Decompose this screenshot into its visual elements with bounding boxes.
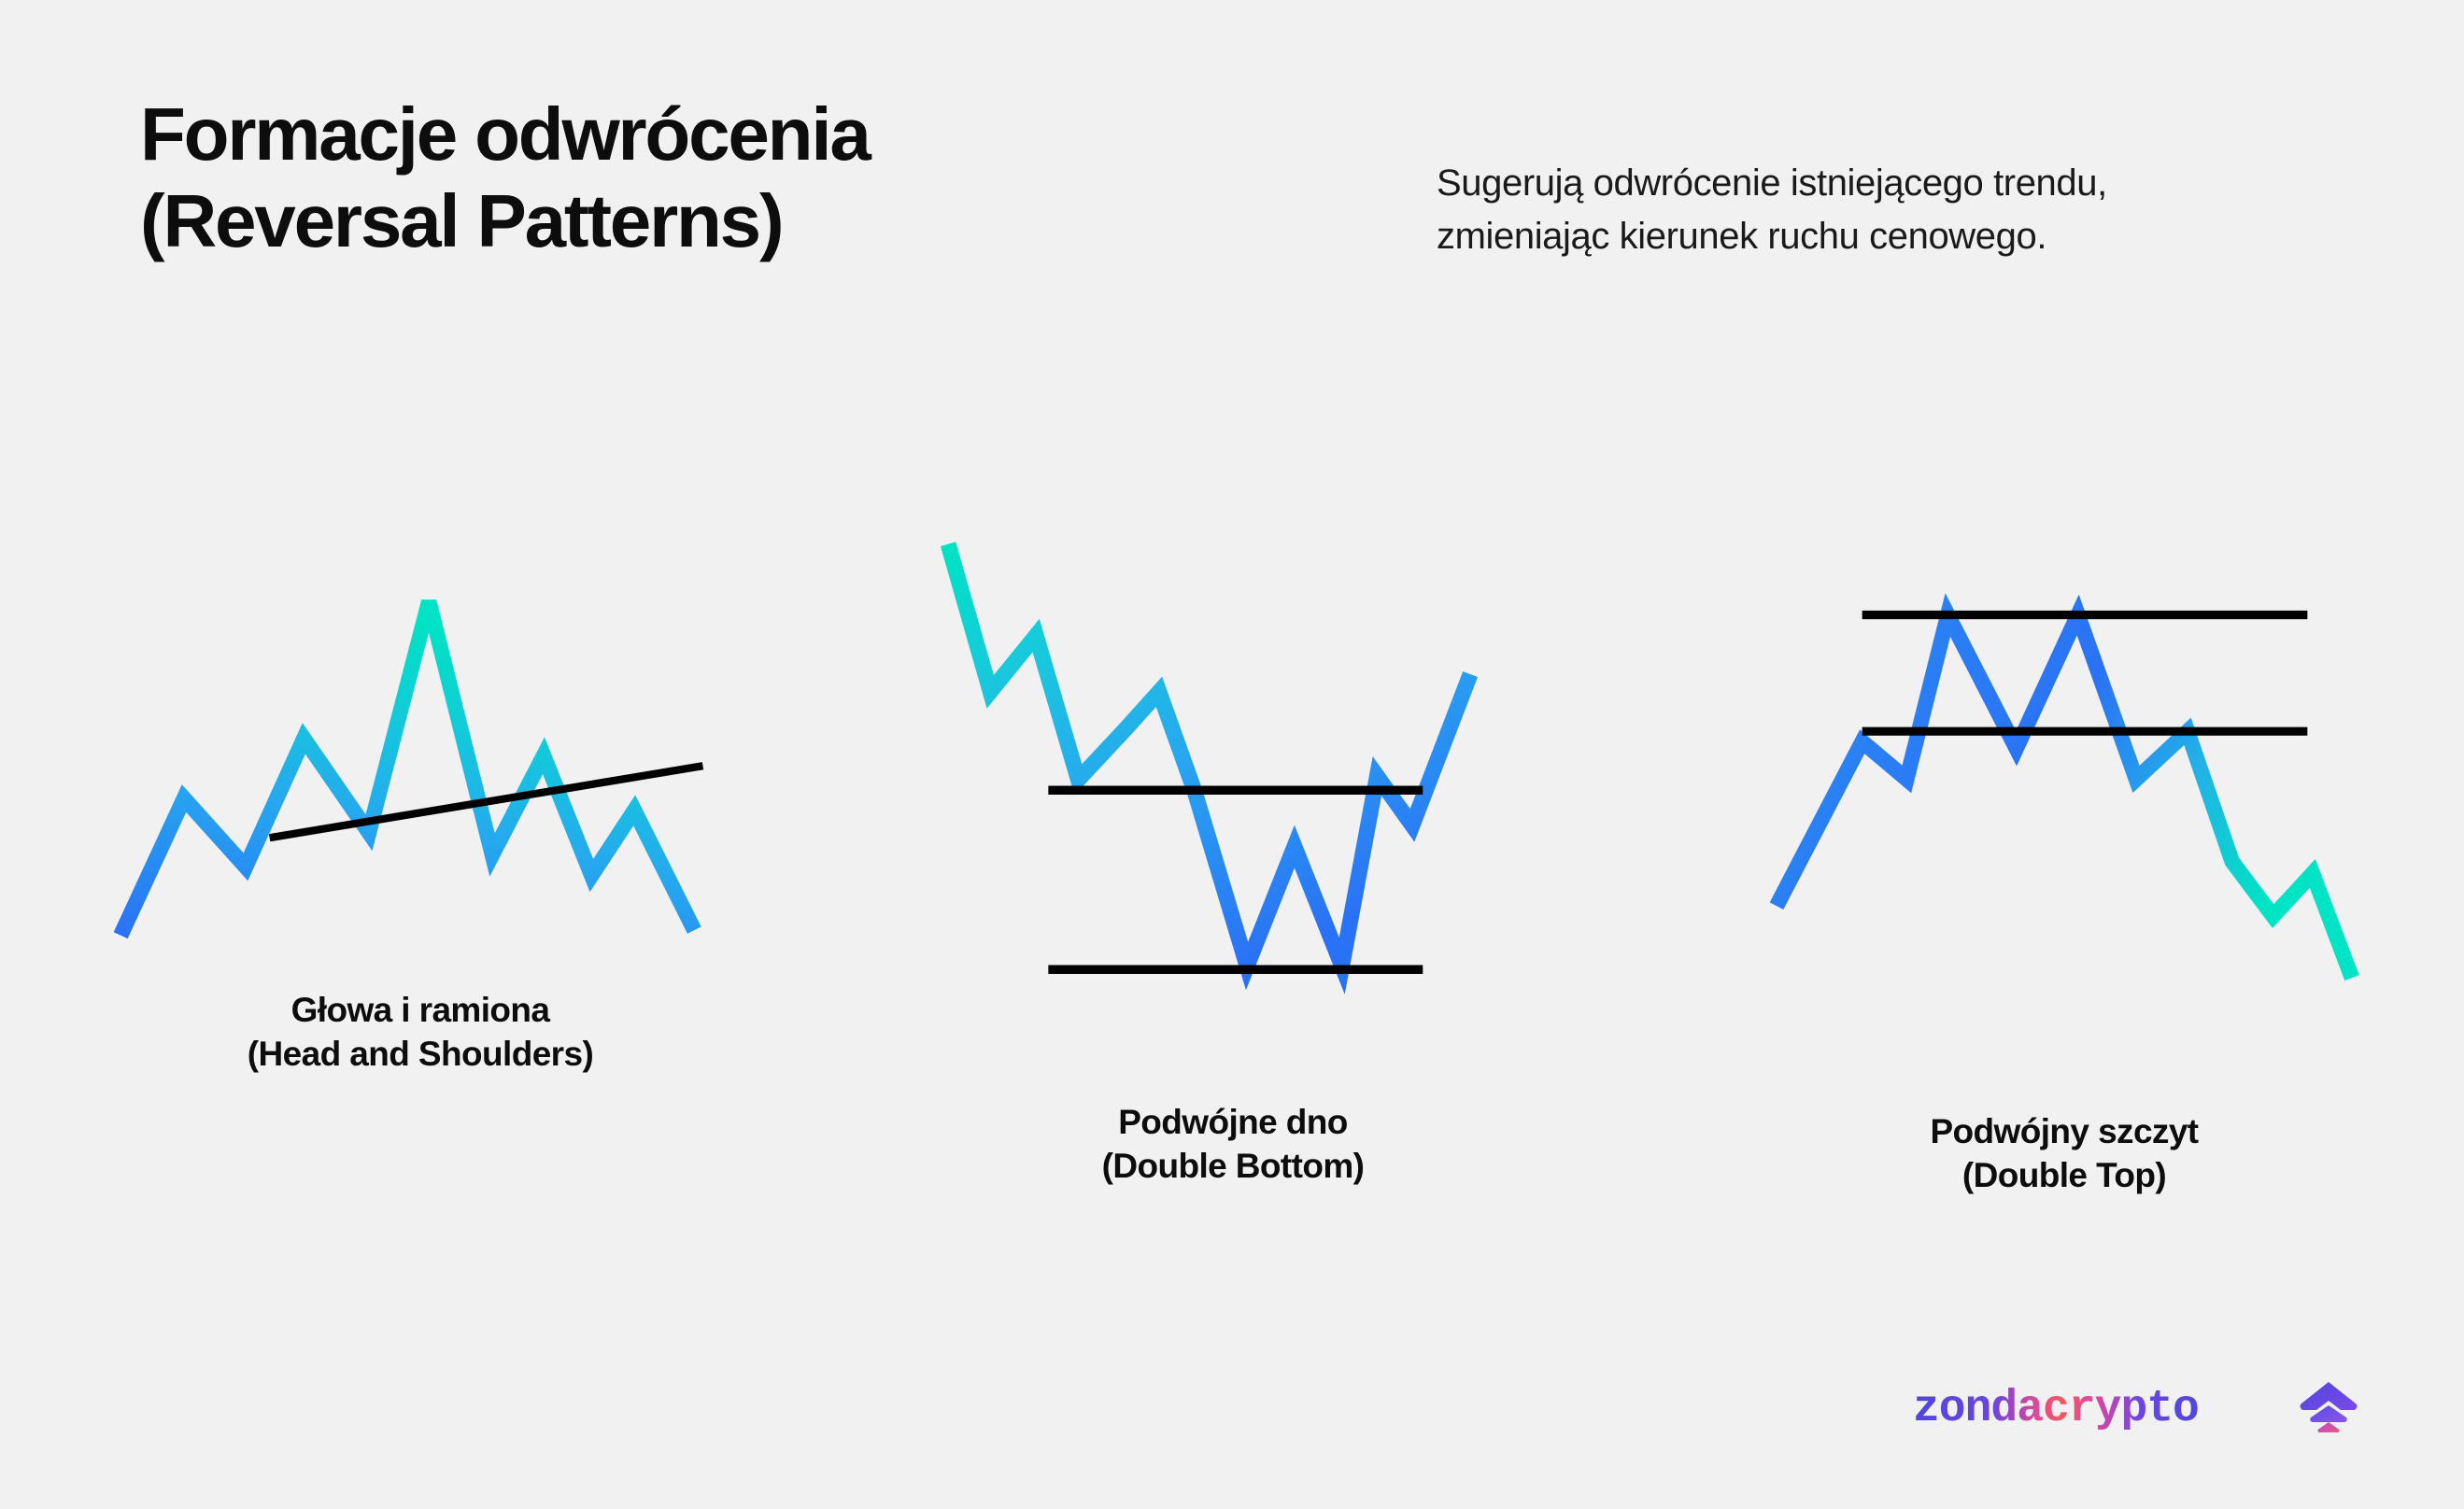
price-line [948,544,1470,966]
logo-wordmark-zondacrypto: zondacrypto [1913,1381,2287,1433]
page-title-line1: Formacje odwrócenia [140,92,870,176]
stacked-chevrons-icon [2300,1380,2358,1434]
chevron-small [2317,1422,2339,1432]
caption-line1: Podwójne dno [1118,1103,1348,1141]
caption-line2: (Double Top) [1962,1156,2166,1194]
price-line [1777,615,2352,979]
pattern-panel-head-and-shoulders: Głowa i ramiona(Head and Shoulders) [112,542,729,952]
chart-double-bottom [934,523,1532,1065]
caption-line1: Głowa i ramiona [291,991,550,1029]
pattern-caption-double-bottom: Podwójne dno(Double Bottom) [934,1100,1532,1189]
caption-line2: (Head and Shoulders) [248,1035,593,1073]
caption-line2: (Double Bottom) [1102,1147,1365,1185]
header: Formacje odwrócenia(Reversal Patterns) S… [0,0,2464,374]
pattern-caption-head-and-shoulders: Głowa i ramiona(Head and Shoulders) [112,988,729,1077]
chart-head-and-shoulders [112,542,729,952]
caption-line1: Podwójny szczyt [1930,1112,2198,1150]
page-title: Formacje odwrócenia(Reversal Patterns) [140,92,870,265]
page-subtitle-line1: Sugerują odwrócenie istniejącego trendu, [1437,162,2107,204]
page-title-line2: (Reversal Patterns) [140,179,782,262]
brand-logo[interactable]: zondacrypto [1913,1380,2358,1434]
pattern-panel-double-top: Podwójny szczyt(Double Top) [1756,560,2372,1008]
chart-double-top [1756,560,2372,1008]
page-subtitle-line2: zmieniając kierunek ruchu cenowego. [1437,216,2046,257]
page-subtitle: Sugerują odwrócenie istniejącego trendu,… [1437,157,2107,263]
pattern-panel-double-bottom: Podwójne dno(Double Bottom) [934,523,1532,1065]
pattern-caption-double-top: Podwójny szczyt(Double Top) [1756,1109,2372,1198]
logo-text: zondacrypto [1913,1384,2199,1433]
price-line [120,601,694,935]
